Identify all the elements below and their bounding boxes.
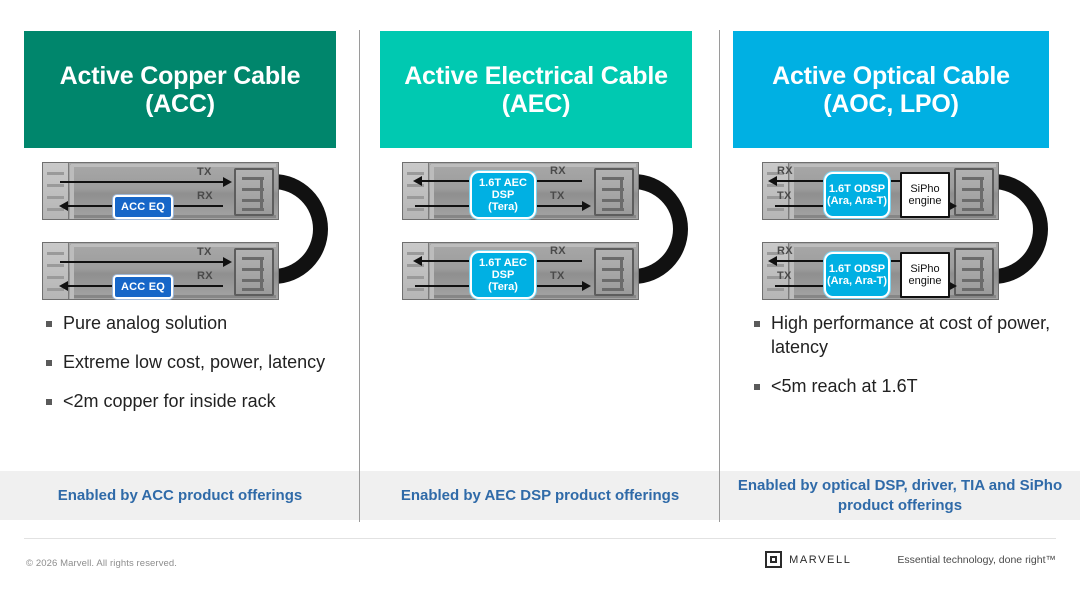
- rx-arrow-left-bottom: [422, 260, 472, 262]
- tx-label-bottom: TX: [197, 246, 212, 258]
- diagram-aoc: RX TX 1.6T ODSP (Ara, Ara-T) SiPho engin…: [720, 158, 1080, 308]
- header-title-line2: (ACC): [145, 90, 215, 118]
- header-title-line2: (AEC): [502, 90, 570, 118]
- list-item: <2m copper for inside rack: [46, 390, 346, 414]
- tx-arrow-left-top: [775, 205, 824, 207]
- rx-label-top: RX: [550, 165, 566, 177]
- module-top-edge: [71, 164, 276, 167]
- rx-arrow-left-top: [777, 180, 824, 182]
- header-banner-aec: Active Electrical Cable (AEC): [380, 31, 692, 148]
- module-endcap: [403, 243, 429, 299]
- header-banner-acc: Active Copper Cable (ACC): [24, 31, 336, 148]
- bullet-list-acc: Pure analog solution Extreme low cost, p…: [46, 312, 346, 428]
- tagline-text: Essential technology, done right™: [897, 554, 1056, 566]
- odsp-chip-bottom: 1.6T ODSP (Ara, Ara-T): [824, 252, 890, 298]
- tx-arrow-bottom: [60, 261, 223, 263]
- tx-arrow-left-top: [415, 205, 470, 207]
- tx-arrow-left-bottom: [775, 285, 824, 287]
- column-acc: Active Copper Cable (ACC): [0, 0, 360, 530]
- header-title-line1: Active Optical Cable: [772, 62, 1010, 90]
- module-endcap: [403, 163, 429, 219]
- tx-label-bottom: TX: [777, 270, 792, 282]
- header-title-line1: Active Copper Cable: [60, 62, 301, 90]
- module-connector: [594, 168, 634, 216]
- acc-eq-chip-bottom: ACC EQ: [113, 275, 173, 299]
- acc-eq-chip-top: ACC EQ: [113, 195, 173, 219]
- column-aec: Active Electrical Cable (AEC): [360, 0, 720, 530]
- enabled-text: Enabled by optical DSP, driver, TIA and …: [720, 476, 1080, 515]
- odsp-chip-top: 1.6T ODSP (Ara, Ara-T): [824, 172, 890, 218]
- module-pinbar: [70, 245, 74, 299]
- copyright-text: © 2026 Marvell. All rights reserved.: [26, 558, 177, 569]
- slide: Active Copper Cable (ACC): [0, 0, 1080, 604]
- module-connector: [234, 248, 274, 296]
- tx-label-bottom: TX: [550, 270, 565, 282]
- header-title-line2: (AOC, LPO): [823, 90, 959, 118]
- header-title-line1: Active Electrical Cable: [404, 62, 668, 90]
- bullet-square-icon: [46, 321, 52, 327]
- marvell-logo-icon: [765, 551, 782, 568]
- column-divider-2: [719, 30, 720, 522]
- tx-label-top: TX: [550, 190, 565, 202]
- rx-arrow-left-bottom: [68, 285, 116, 287]
- brand-area: MARVELL Essential technology, done right…: [765, 551, 1056, 568]
- sipho-engine-box-top: SiPho engine: [900, 172, 950, 218]
- bullet-square-icon: [46, 360, 52, 366]
- module-connector: [954, 168, 994, 216]
- rx-label-bottom: RX: [550, 245, 566, 257]
- rx-arrow-left-bottom: [777, 260, 824, 262]
- column-divider-1: [359, 30, 360, 522]
- enabled-bar-aec: Enabled by AEC DSP product offerings: [360, 471, 720, 520]
- footer-separator: [24, 538, 1056, 539]
- bullet-square-icon: [46, 399, 52, 405]
- tx-arrow-top: [60, 181, 223, 183]
- tx-label-top: TX: [777, 190, 792, 202]
- aec-dsp-chip-bottom: 1.6T AEC DSP (Tera): [470, 251, 536, 299]
- module-connector: [234, 168, 274, 216]
- diagram-aec: RX TX 1.6T AEC DSP (Tera) RX TX 1.6T AEC: [360, 158, 720, 308]
- enabled-bar-acc: Enabled by ACC product offerings: [0, 471, 360, 520]
- rx-arrow-right-bottom: [532, 260, 582, 262]
- enabled-text: Enabled by ACC product offerings: [58, 486, 302, 506]
- rx-arrow-left-top: [68, 205, 116, 207]
- module-connector: [954, 248, 994, 296]
- marvell-logo: MARVELL: [765, 551, 851, 568]
- diagram-acc: TX RX ACC EQ TX RX ACC EQ: [0, 158, 360, 308]
- module-connector: [594, 248, 634, 296]
- sipho-engine-box-bottom: SiPho engine: [900, 252, 950, 298]
- rx-label-top: RX: [197, 190, 213, 202]
- rx-label-top: RX: [777, 165, 793, 177]
- module-pinbar: [70, 165, 74, 219]
- aec-dsp-chip-top: 1.6T AEC DSP (Tera): [470, 171, 536, 219]
- enabled-bar-aoc: Enabled by optical DSP, driver, TIA and …: [720, 471, 1080, 520]
- list-item: Pure analog solution: [46, 312, 346, 336]
- tx-arrow-left-bottom: [415, 285, 470, 287]
- column-container: Active Copper Cable (ACC): [0, 0, 1080, 530]
- rx-arrow-right-top: [532, 180, 582, 182]
- list-item: Extreme low cost, power, latency: [46, 351, 346, 375]
- module-top-edge: [71, 244, 276, 247]
- rx-arrow-left-top: [422, 180, 472, 182]
- rx-label-bottom: RX: [197, 270, 213, 282]
- header-banner-aoc: Active Optical Cable (AOC, LPO): [733, 31, 1049, 148]
- enabled-text: Enabled by AEC DSP product offerings: [401, 486, 679, 506]
- marvell-logo-word: MARVELL: [789, 554, 851, 566]
- column-aoc: Active Optical Cable (AOC, LPO): [720, 0, 1080, 530]
- rx-label-bottom: RX: [777, 245, 793, 257]
- tx-label-top: TX: [197, 166, 212, 178]
